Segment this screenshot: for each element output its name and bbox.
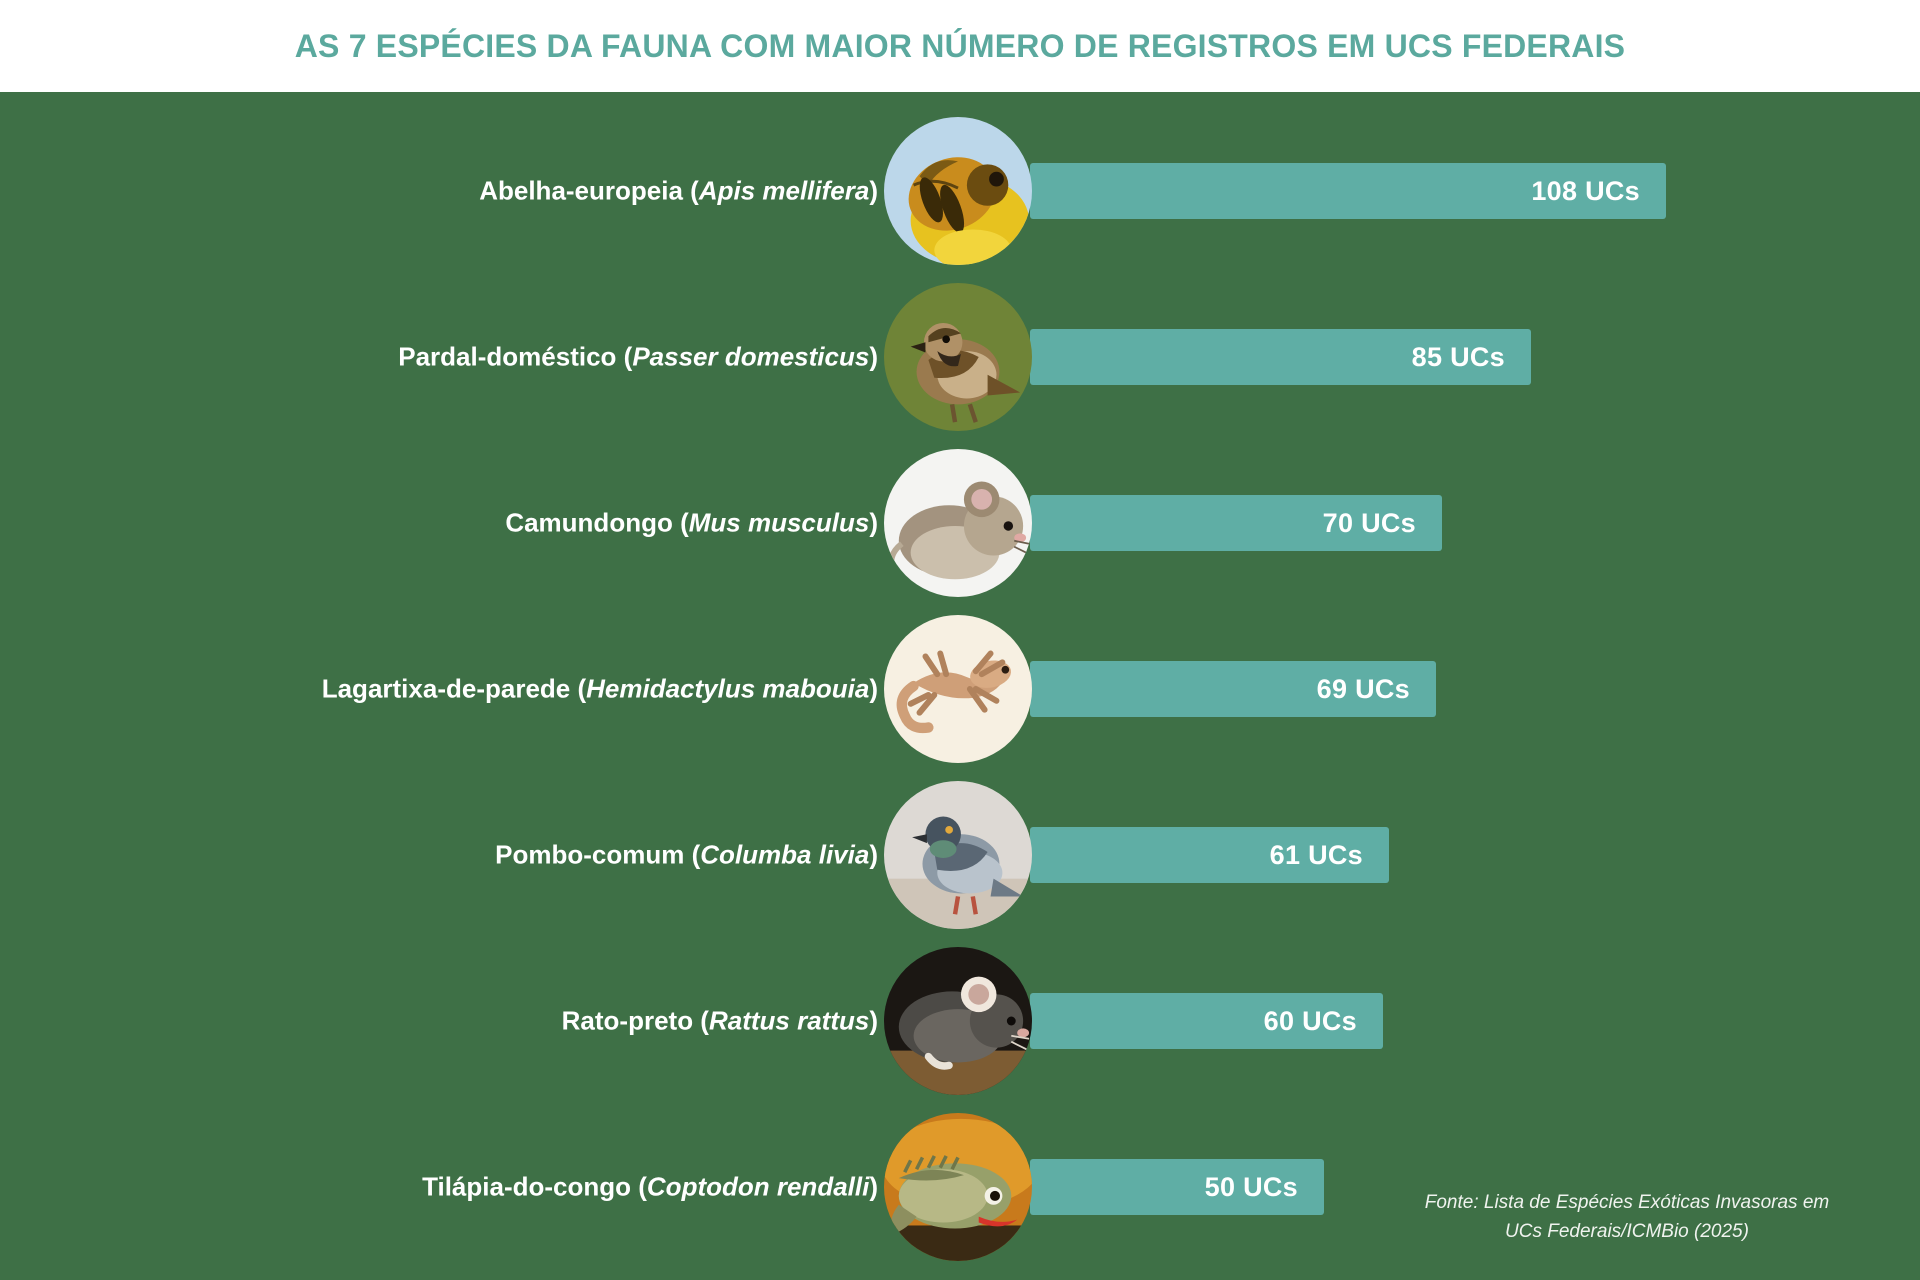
bar-track: 85 UCs bbox=[1030, 329, 1531, 385]
black-rat-photo bbox=[884, 947, 1032, 1095]
bar-value-label: 69 UCs bbox=[1317, 674, 1410, 705]
value-bar[interactable]: 60 UCs bbox=[1030, 993, 1383, 1049]
bar-value-label: 70 UCs bbox=[1323, 508, 1416, 539]
species-common-name: Lagartixa-de-parede ( bbox=[322, 674, 586, 704]
species-scientific-name: Rattus rattus bbox=[709, 1006, 869, 1036]
species-scientific-name: Apis mellifera bbox=[699, 176, 870, 206]
honeybee-photo bbox=[884, 117, 1032, 265]
value-bar[interactable]: 108 UCs bbox=[1030, 163, 1666, 219]
species-scientific-name: Passer domesticus bbox=[632, 342, 869, 372]
bar-value-label: 60 UCs bbox=[1264, 1006, 1357, 1037]
chart-row: Rato-preto (Rattus rattus)60 UCs bbox=[0, 938, 1920, 1104]
bar-track: 69 UCs bbox=[1030, 661, 1436, 717]
value-bar[interactable]: 61 UCs bbox=[1030, 827, 1389, 883]
species-label: Pombo-comum (Columba livia) bbox=[495, 841, 878, 870]
chart-row: Lagartixa-de-parede (Hemidactylus maboui… bbox=[0, 606, 1920, 772]
species-label-close-paren: ) bbox=[869, 342, 878, 372]
species-label-close-paren: ) bbox=[869, 1006, 878, 1036]
species-scientific-name: Mus musculus bbox=[689, 508, 870, 538]
species-label: Abelha-europeia (Apis mellifera) bbox=[479, 177, 878, 206]
species-common-name: Tilápia-do-congo ( bbox=[422, 1172, 647, 1202]
species-common-name: Abelha-europeia ( bbox=[479, 176, 699, 206]
species-label-close-paren: ) bbox=[869, 176, 878, 206]
infographic-page: AS 7 ESPÉCIES DA FAUNA COM MAIOR NÚMERO … bbox=[0, 0, 1920, 1280]
redbreast-tilapia-photo bbox=[884, 1113, 1032, 1261]
chart-row: Abelha-europeia (Apis mellifera)108 UCs bbox=[0, 108, 1920, 274]
bar-value-label: 108 UCs bbox=[1531, 176, 1640, 207]
species-common-name: Pombo-comum ( bbox=[495, 840, 700, 870]
species-label: Lagartixa-de-parede (Hemidactylus maboui… bbox=[322, 675, 878, 704]
page-title: AS 7 ESPÉCIES DA FAUNA COM MAIOR NÚMERO … bbox=[295, 28, 1625, 65]
chart-row: Pombo-comum (Columba livia)61 UCs bbox=[0, 772, 1920, 938]
species-label: Tilápia-do-congo (Coptodon rendalli) bbox=[422, 1173, 878, 1202]
header-bar: AS 7 ESPÉCIES DA FAUNA COM MAIOR NÚMERO … bbox=[0, 0, 1920, 92]
bar-value-label: 50 UCs bbox=[1205, 1172, 1298, 1203]
bar-value-label: 61 UCs bbox=[1270, 840, 1363, 871]
chart-row: Pardal-doméstico (Passer domesticus)85 U… bbox=[0, 274, 1920, 440]
value-bar[interactable]: 70 UCs bbox=[1030, 495, 1442, 551]
species-label-close-paren: ) bbox=[869, 508, 878, 538]
value-bar[interactable]: 85 UCs bbox=[1030, 329, 1531, 385]
value-bar[interactable]: 50 UCs bbox=[1030, 1159, 1324, 1215]
species-common-name: Camundongo ( bbox=[505, 508, 688, 538]
bar-track: 108 UCs bbox=[1030, 163, 1666, 219]
species-label: Camundongo (Mus musculus) bbox=[505, 509, 878, 538]
tropical-house-gecko-photo bbox=[884, 615, 1032, 763]
source-note: Fonte: Lista de Espécies Exóticas Invaso… bbox=[1392, 1189, 1862, 1246]
species-scientific-name: Columba livia bbox=[700, 840, 869, 870]
species-label-close-paren: ) bbox=[869, 674, 878, 704]
species-scientific-name: Hemidactylus mabouia bbox=[586, 674, 869, 704]
source-note-line-2: UCs Federais/ICMBio (2025) bbox=[1392, 1218, 1862, 1247]
value-bar[interactable]: 69 UCs bbox=[1030, 661, 1436, 717]
species-scientific-name: Coptodon rendalli bbox=[647, 1172, 869, 1202]
bar-value-label: 85 UCs bbox=[1412, 342, 1505, 373]
bar-track: 70 UCs bbox=[1030, 495, 1442, 551]
species-label: Pardal-doméstico (Passer domesticus) bbox=[398, 343, 878, 372]
species-label-close-paren: ) bbox=[869, 1172, 878, 1202]
species-common-name: Pardal-doméstico ( bbox=[398, 342, 632, 372]
bar-chart: Abelha-europeia (Apis mellifera)108 UCs … bbox=[0, 92, 1920, 1280]
source-note-line-1: Fonte: Lista de Espécies Exóticas Invaso… bbox=[1392, 1189, 1862, 1218]
species-label-close-paren: ) bbox=[869, 840, 878, 870]
species-common-name: Rato-preto ( bbox=[562, 1006, 709, 1036]
chart-row: Camundongo (Mus musculus)70 UCs bbox=[0, 440, 1920, 606]
bar-track: 60 UCs bbox=[1030, 993, 1383, 1049]
species-label: Rato-preto (Rattus rattus) bbox=[562, 1007, 878, 1036]
house-sparrow-photo bbox=[884, 283, 1032, 431]
house-mouse-photo bbox=[884, 449, 1032, 597]
bar-track: 50 UCs bbox=[1030, 1159, 1324, 1215]
rock-pigeon-photo bbox=[884, 781, 1032, 929]
bar-track: 61 UCs bbox=[1030, 827, 1389, 883]
